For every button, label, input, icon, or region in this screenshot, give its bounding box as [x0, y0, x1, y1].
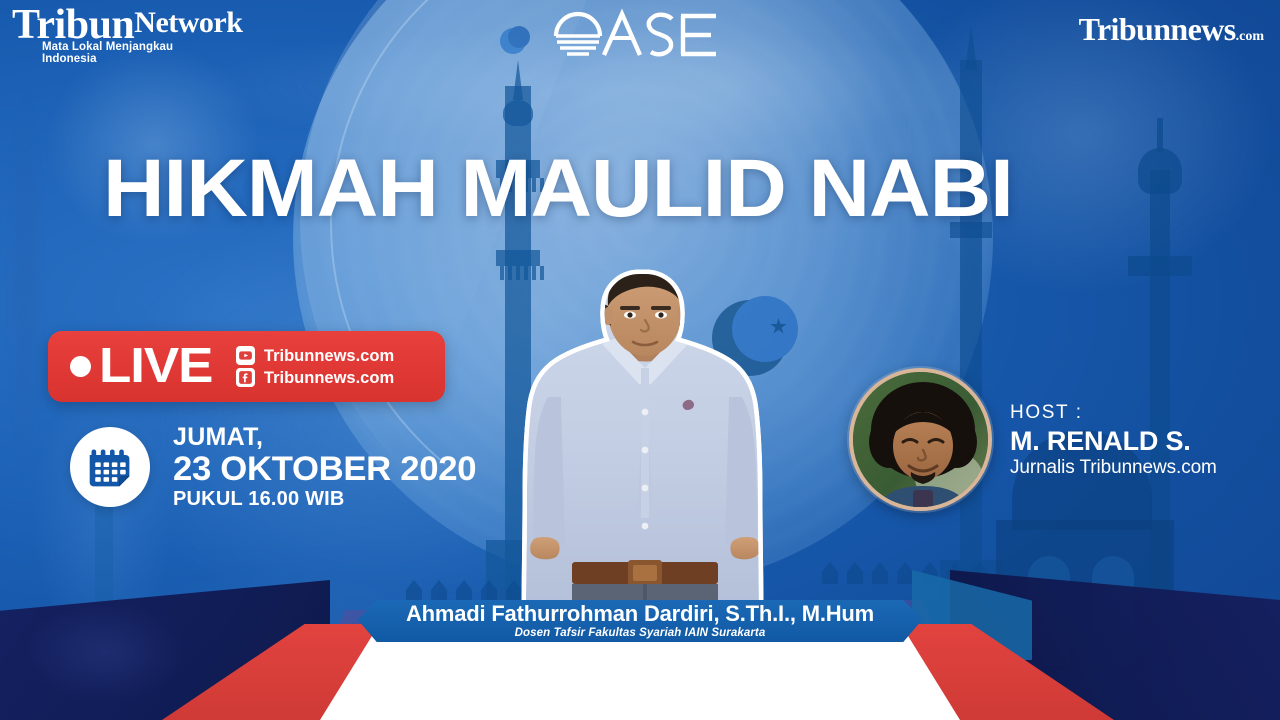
host-block: HOST : M. RENALD S. Jurnalis Tribunnews.…	[849, 368, 1217, 511]
host-name: M. RENALD S.	[1010, 426, 1217, 456]
bottom-white-trapezoid	[320, 632, 960, 720]
broadcast-poster: TribunNetwork Mata Lokal Menjangkau Indo…	[0, 0, 1280, 720]
youtube-icon	[236, 346, 255, 365]
minaret-spire-icon	[1157, 118, 1163, 152]
tribun-network-tagline: Mata Lokal Menjangkau Indonesia	[42, 41, 227, 65]
schedule-day: JUMAT,	[173, 424, 470, 450]
tribun-network-logo-word: Network	[134, 6, 242, 39]
schedule-block: JUMAT, 23 OKTOBER 2020 PUKUL 16.00 WIB	[70, 424, 470, 510]
calendar-icon	[70, 427, 150, 507]
channel-youtube-handle: Tribunnews.com	[264, 347, 394, 365]
speaker-role: Dosen Tafsir Fakultas Syariah IAIN Surak…	[515, 626, 766, 640]
oase-logo[interactable]	[548, 6, 723, 58]
host-role: Jurnalis Tribunnews.com	[1010, 456, 1217, 479]
schedule-date: 23 OKTOBER 2020	[173, 450, 476, 488]
channel-facebook-handle: Tribunnews.com	[264, 369, 394, 387]
live-label: LIVE	[99, 342, 212, 391]
speaker-name-banner: Ahmadi Fathurrohman Dardiri, S.Th.I., M.…	[358, 600, 923, 642]
tribunnews-logo-suffix: .com	[1236, 29, 1264, 44]
live-dot-icon	[70, 356, 91, 377]
minaret-balcony	[1128, 256, 1192, 276]
tribunnews-logo[interactable]: Tribunnews.com	[1079, 12, 1264, 56]
tribunnews-logo-word: Tribunnews	[1079, 11, 1236, 47]
live-badge[interactable]: LIVE Tribunnews.com Tribun	[48, 331, 445, 402]
channel-facebook[interactable]: Tribunnews.com	[236, 368, 394, 387]
host-label: HOST :	[1010, 401, 1217, 425]
crescent-small-icon	[500, 28, 526, 54]
facebook-icon	[236, 368, 255, 387]
channel-youtube[interactable]: Tribunnews.com	[236, 346, 394, 365]
schedule-time: PUKUL 16.00 WIB	[173, 488, 470, 510]
speaker-name: Ahmadi Fathurrohman Dardiri, S.Th.I., M.…	[406, 602, 874, 625]
page-title: HIKMAH MAULID NABI	[103, 148, 1013, 230]
tribun-network-logo[interactable]: TribunNetwork Mata Lokal Menjangkau Indo…	[12, 8, 227, 60]
host-avatar	[849, 368, 992, 511]
speaker-portrait	[500, 262, 790, 620]
live-channels: Tribunnews.com Tribunnews.com	[236, 346, 394, 387]
